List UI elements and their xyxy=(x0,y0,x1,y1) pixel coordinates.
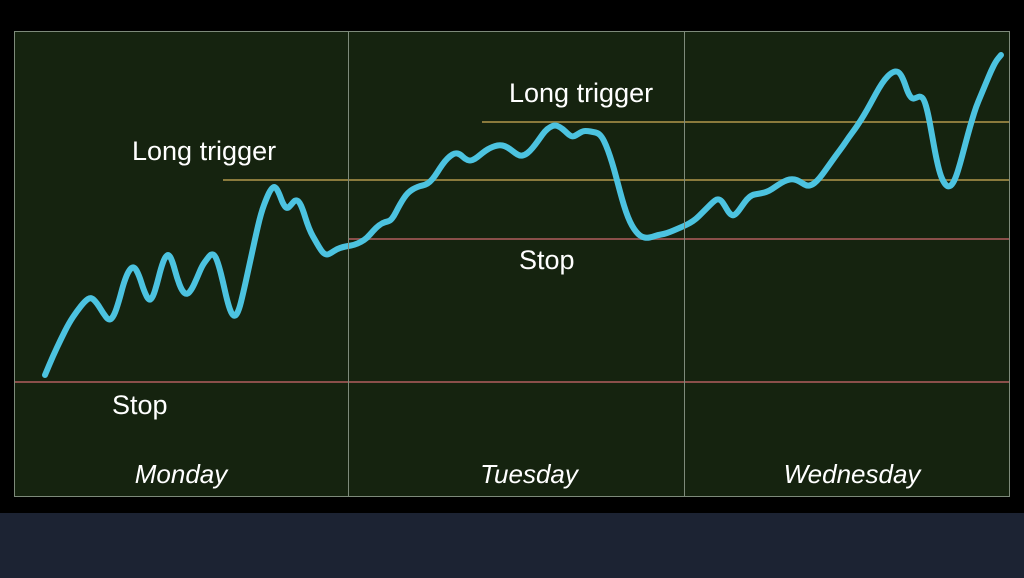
screenshot-root: Long triggerStopLong triggerStop MondayT… xyxy=(0,0,1024,578)
stop-monday: Stop xyxy=(112,390,168,421)
long-trigger-tuesday: Long trigger xyxy=(509,78,653,109)
day-divider-tue-wed xyxy=(684,32,685,497)
chart-frame[interactable]: Long triggerStopLong triggerStop MondayT… xyxy=(14,31,1010,497)
day-label-tuesday: Tuesday xyxy=(379,459,679,490)
day-label-wednesday: Wednesday xyxy=(702,459,1002,490)
day-label-monday: Monday xyxy=(31,459,331,490)
stop-tuesday: Stop xyxy=(519,245,575,276)
bottom-bar xyxy=(0,513,1024,578)
long-trigger-monday: Long trigger xyxy=(132,136,276,167)
day-divider-mon-tue xyxy=(348,32,349,497)
